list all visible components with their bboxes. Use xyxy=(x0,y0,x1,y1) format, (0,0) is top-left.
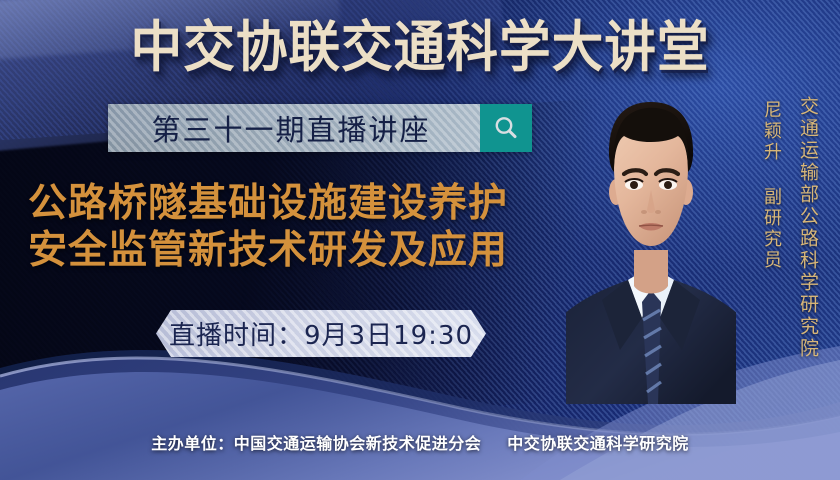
broadcast-time-text: 直播时间：9月3日19:30 xyxy=(169,315,473,352)
search-icon xyxy=(492,114,520,142)
episode-label: 第三十一期直播讲座 xyxy=(151,107,436,149)
search-button[interactable] xyxy=(480,104,532,152)
lecture-title: 公路桥隧基础设施建设养护 安全监管新技术研发及应用 xyxy=(28,180,588,274)
lecture-title-line-2: 安全监管新技术研发及应用 xyxy=(28,227,588,274)
episode-banner: 第三十一期直播讲座 xyxy=(108,104,532,152)
lecture-title-line-1: 公路桥隧基础设施建设养护 xyxy=(28,180,588,227)
speaker-photo xyxy=(566,74,736,404)
footer-co-organizer: 中交协联交通科学研究院 xyxy=(507,434,689,453)
footer-organizer: 中国交通运输协会新技术促进分会 xyxy=(234,434,482,453)
speaker-organization: 交通运输部公路科学研究院 xyxy=(795,96,822,360)
footer: 主办单位：中国交通运输协会新技术促进分会中交协联交通科学研究院 xyxy=(0,430,840,454)
footer-organizer-label: 主办单位： xyxy=(151,434,234,453)
episode-banner-body: 第三十一期直播讲座 xyxy=(108,104,480,152)
speaker-name-title: 尼颖升 副研究员 xyxy=(758,100,784,271)
page-title: 中交协联交通科学大讲堂 xyxy=(25,16,815,78)
broadcast-time-banner: 直播时间：9月3日19:30 xyxy=(156,310,486,357)
poster-canvas: 中交协联交通科学大讲堂 第三十一期直播讲座 公路桥隧基础设施建设养护 安全监管新… xyxy=(0,0,840,480)
